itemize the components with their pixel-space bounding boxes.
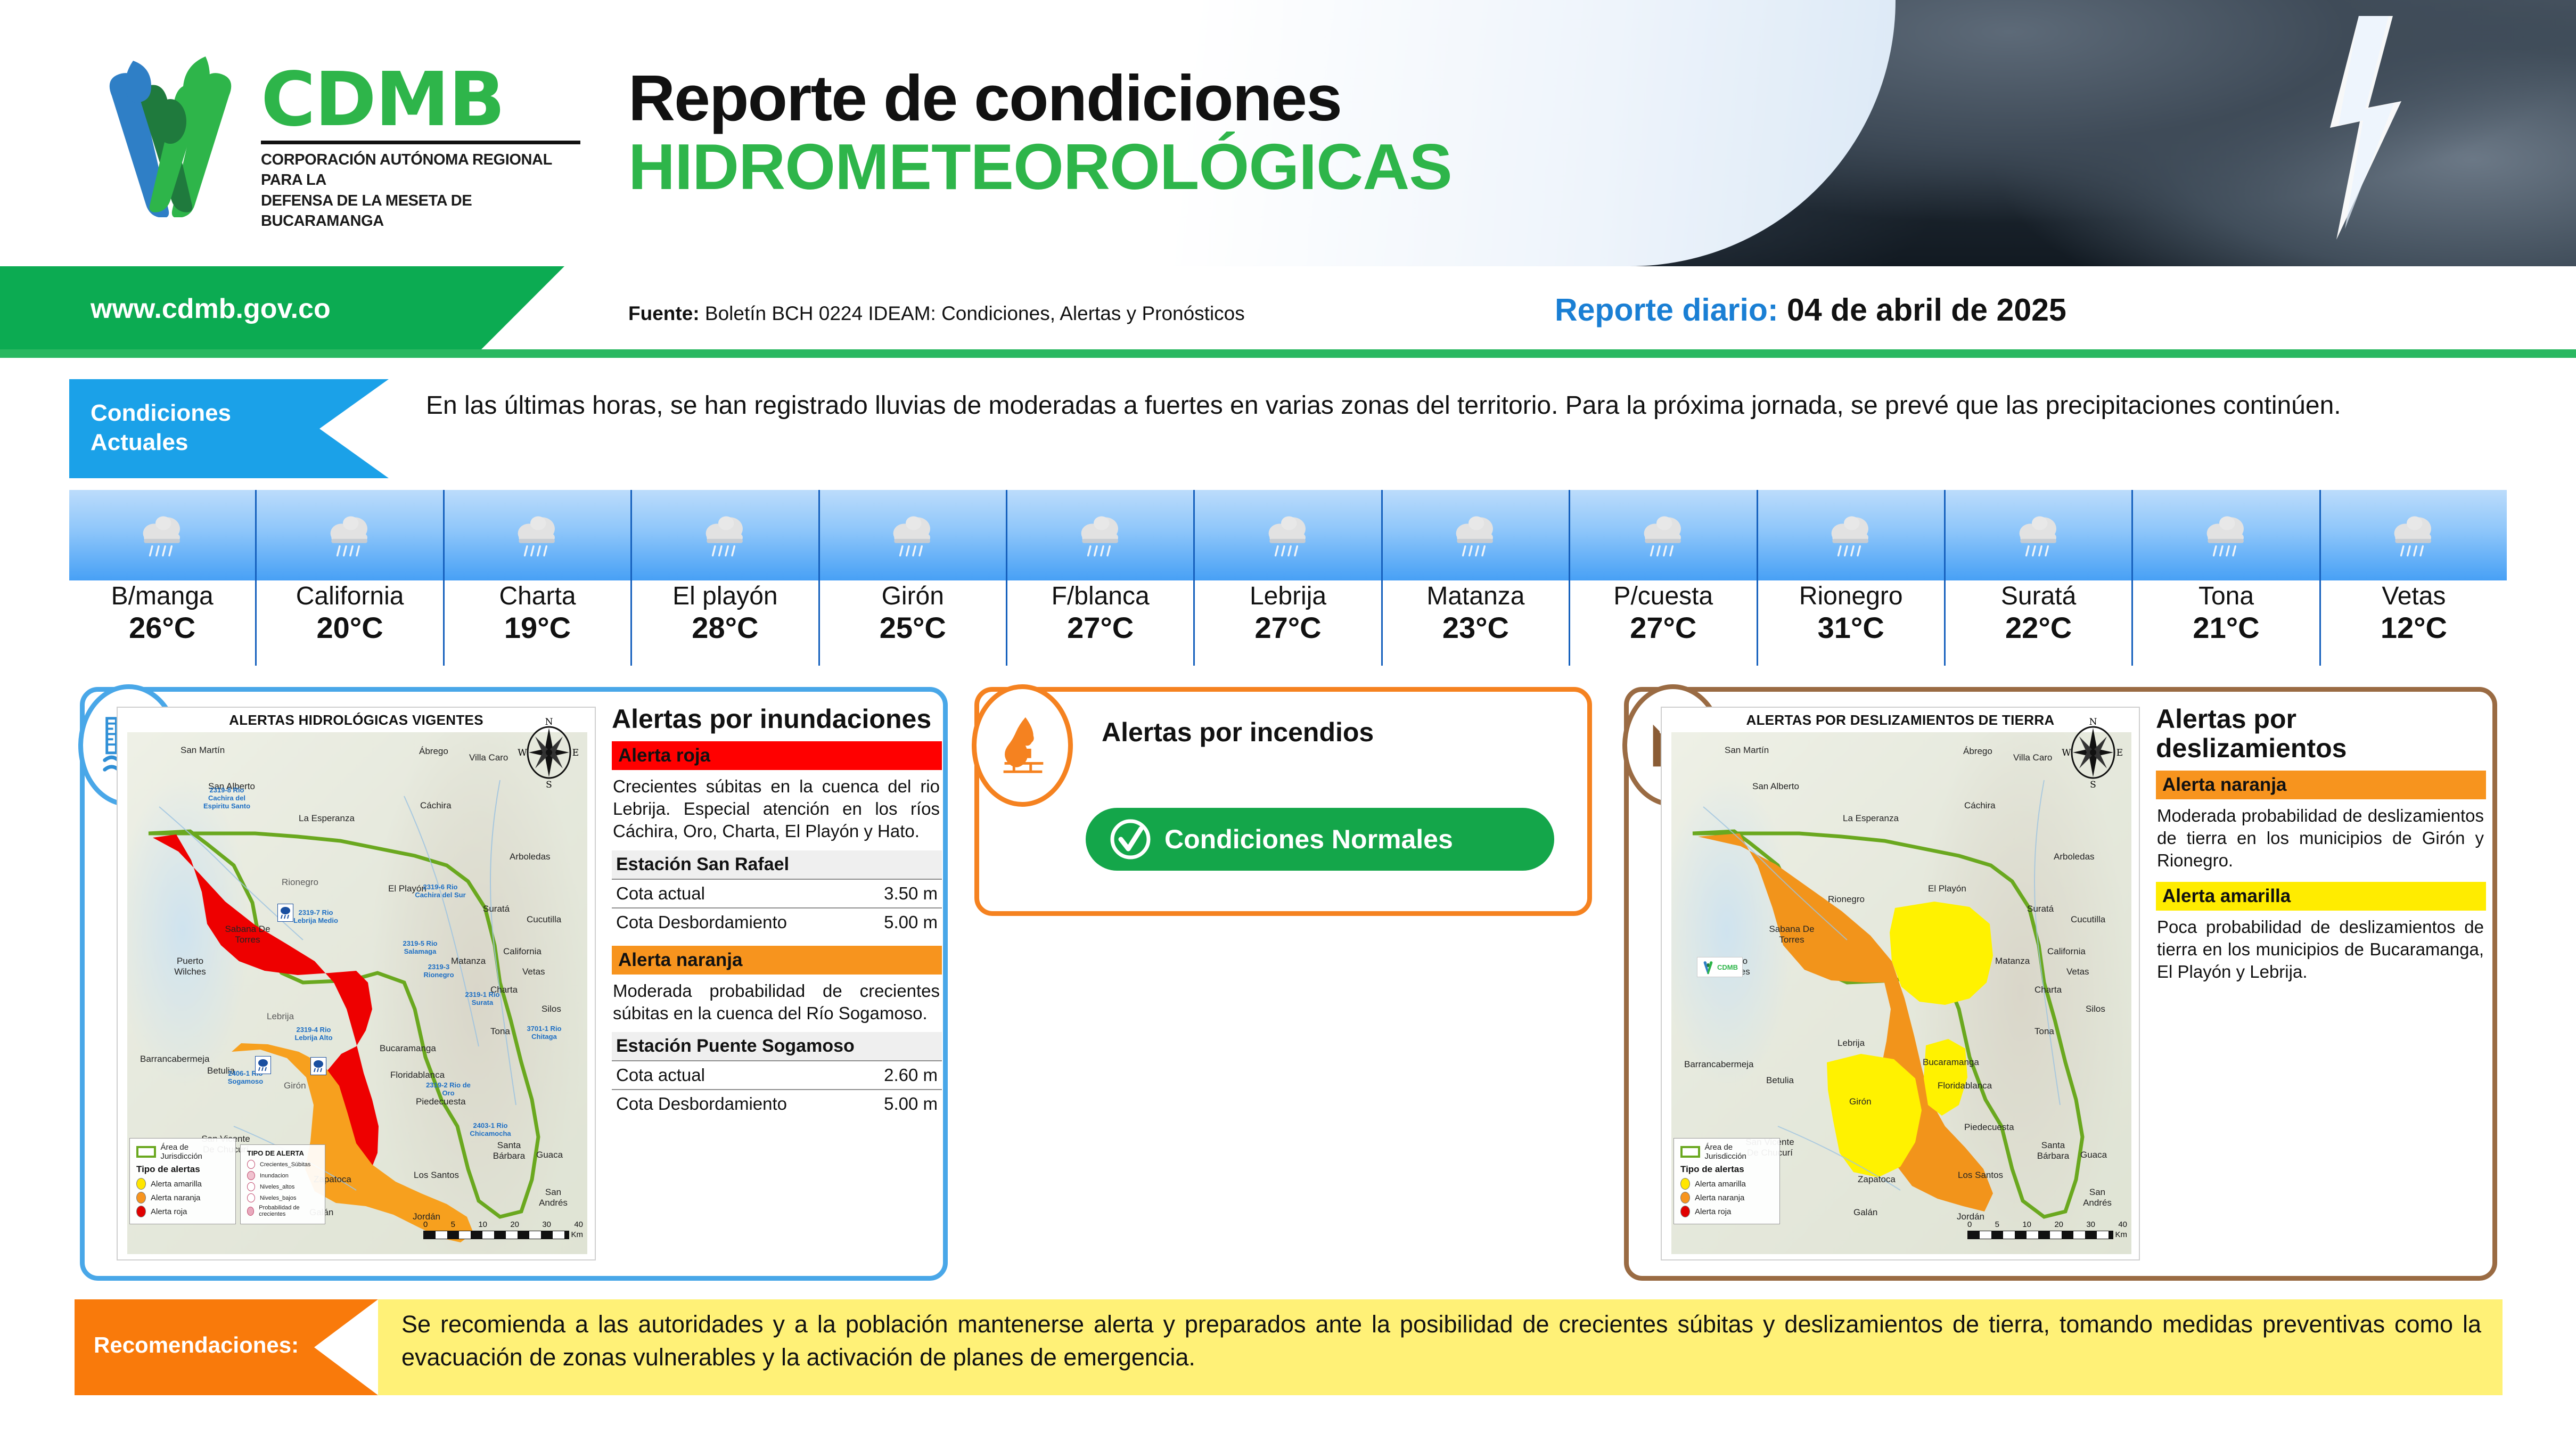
alert-type-label: Inundacion [260,1173,289,1179]
page-title-line1: Reporte de condiciones [628,64,1800,133]
rain-cloud-icon [2133,490,2319,580]
map-place-label: Silos [2086,1004,2105,1014]
station-row-value: 5.00 m [884,912,938,932]
map-place-label: Betulia [1766,1075,1794,1086]
map-place-label: Floridablanca [1938,1080,1992,1091]
map-place-label: Rionegro [1828,894,1865,905]
weather-temp: 27°C [1067,611,1134,645]
recommendations-body: Se recomienda a las autoridades y a la p… [378,1299,2503,1395]
svg-text:S: S [2090,780,2096,790]
map-place-label: Arboledas [510,852,551,862]
map-place-label: Cucutilla [2071,914,2105,925]
landslide-alerts-column: Alertas por deslizamientos Alerta naranj… [2156,705,2486,985]
fire-status-label: Condiciones Normales [1164,824,1453,855]
map-place-label: Vetas [522,967,545,977]
map-place-label: Lebrija [1837,1038,1865,1049]
svg-text:E: E [572,748,579,758]
map-place-label: Lebrija [267,1011,294,1022]
svg-text:W: W [518,748,527,758]
map-river-label: 2319-5 Rio Salamaga [393,940,447,956]
scale-tick: 10 [2022,1220,2031,1229]
svg-text:N: N [2089,717,2097,727]
map-place-label: Arboledas [2054,852,2095,862]
map-place-label: Cucutilla [527,914,561,925]
jurisdiction-swatch [136,1146,156,1158]
weather-cell: P/cuesta27°C [1570,490,1758,666]
map-river-label: 2319-8 Rio Cachira del Espiritu Santo [198,787,256,811]
map-place-label: Guaca [536,1150,563,1160]
alert-chip-amarilla: Alerta amarilla [2156,882,2486,911]
map-place-label: Villa Caro [2013,752,2052,763]
legend-item: Alerta naranja [1680,1192,1773,1204]
station-row: Cota actual 3.50 m [612,879,942,907]
weather-cell: Charta19°C [445,490,632,666]
weather-cell: Tona21°C [2133,490,2320,666]
lightning-bolt-icon [2279,16,2439,240]
map-place-label: Tona [490,1026,510,1037]
rain-cloud-icon [445,490,630,580]
legend-item-label: Alerta naranja [151,1193,200,1202]
weather-temp: 27°C [1630,611,1696,645]
hydrological-alerts-map[interactable]: ALERTAS HIDROLÓGICAS VIGENTES [117,707,596,1260]
map-place-label: Santa Bárbara [485,1140,533,1161]
map-place-label: San Alberto [1752,781,1799,792]
map-cdmb-badge-label: CDMB [1717,963,1738,971]
weather-city: California [296,583,404,611]
map-place-label: Bucaramanga [380,1043,436,1054]
weather-temp: 19°C [504,611,571,645]
current-conditions-tab-label: Condiciones Actuales [91,398,231,457]
station-row-value: 2.60 m [884,1065,938,1085]
map-river-label: 2319-6 Rio Cachira del Sur [414,883,467,899]
cdmb-logo: CDMB CORPORACIÓN AUTÓNOMA REGIONAL PARA … [69,47,602,223]
scale-tick: 0 [423,1220,428,1229]
weather-city: P/cuesta [1613,583,1713,611]
fire-alerts-card: Alertas por incendios Condiciones Normal… [974,687,1592,916]
map-place-label: Cáchira [420,800,452,811]
station-row-label: Cota actual [616,883,705,904]
scale-tick: 40 [2118,1220,2127,1229]
weather-cell: Matanza23°C [1383,490,1570,666]
legend-jurisdiction-row: Área de Jurisdicción [1680,1143,1773,1161]
info-bar: www.cdmb.gov.co Fuente: Boletín BCH 0224… [0,266,2576,357]
current-conditions-section: Condiciones Actuales En las últimas hora… [69,379,2507,478]
weather-city: Vetas [2382,583,2446,611]
scale-tick: 20 [2054,1220,2063,1229]
rain-cloud-icon [1383,490,1569,580]
alert-type-item: Niveles_bajos [247,1193,318,1202]
page-title: Reporte de condiciones HIDROMETEOROLÓGIC… [628,64,1800,202]
recommendations-tab-label: Recomendaciones: [94,1332,299,1358]
scale-unit: Km [571,1230,584,1239]
map-place-label: Floridablanca [390,1070,445,1080]
weather-cell: El playón28°C [632,490,819,666]
legend-jurisdiction-label: Área de Jurisdicción [161,1143,229,1161]
map-river-label: 2319-4 Rio Lebrija Alto [287,1026,340,1042]
alert-body-naranja: Moderada probabilidad de deslizamientos … [2156,799,2486,874]
page-title-line2: HIDROMETEOROLÓGICAS [628,133,1800,201]
website-url[interactable]: www.cdmb.gov.co [91,293,331,325]
map-place-label: Guaca [2080,1150,2107,1160]
map-place-label: Girón [284,1080,306,1091]
alert-chip-naranja: Alerta naranja [612,946,942,975]
legend-color-dot [1680,1206,1690,1217]
map-cdmb-badge: CDMB [1697,957,1743,977]
alert-type-item: Probabilidad de crecientes [247,1205,318,1217]
station-marker-icon [277,904,293,922]
scale-tick: 0 [1967,1220,1972,1229]
svg-text:W: W [2062,748,2071,758]
logo-subtitle-line1: CORPORACIÓN AUTÓNOMA REGIONAL PARA LA [261,150,591,191]
recommendations-text: Se recomienda a las autoridades y a la p… [401,1308,2481,1374]
map-place-label: San Andrés [533,1187,573,1208]
source-text: Fuente: Boletín BCH 0224 IDEAM: Condicio… [628,302,1245,325]
report-date-block: Reporte diario: 04 de abril de 2025 [1555,292,2066,328]
map-place-label: Ábrego [419,746,448,757]
weather-city: Girón [882,583,944,611]
logo-subtitle-line2: DEFENSA DE LA MESETA DE BUCARAMANGA [261,191,591,232]
station-marker-icon [310,1057,326,1075]
map-place-label: Zapatoca [1858,1174,1896,1185]
legend-item: Alerta roja [136,1206,229,1217]
alert-type-item: Crecientes_Súbitas [247,1160,318,1169]
recommendations-section: Recomendaciones: Se recomienda a las aut… [75,1299,2503,1395]
niveles-altos-icon [247,1182,255,1191]
legend-item: Alerta roja [1680,1206,1773,1217]
alert-type-label: Niveles_bajos [260,1195,296,1201]
alert-panels-row: ALERTAS HIDROLÓGICAS VIGENTES [0,682,2576,1283]
cdmb-mini-logo-icon [1702,960,1714,975]
weather-temp: 28°C [692,611,758,645]
hydro-map-legend: Área de Jurisdicción Tipo de alertas Ale… [129,1138,236,1224]
weather-temp: 31°C [1818,611,1884,645]
alert-type-item: Inundacion [247,1171,318,1180]
map-place-label: Girón [1849,1096,1872,1107]
weather-temp: 20°C [317,611,383,645]
weather-temp: 23°C [1442,611,1509,645]
map-place-label: Suratá [483,904,510,914]
rain-cloud-icon [632,490,818,580]
weather-cell: Girón25°C [820,490,1007,666]
legend-color-dot [136,1206,146,1217]
map-river-label: 2319-3 Rionegro [415,963,463,979]
alert-body-amarilla: Poca probabilidad de deslizamientos de t… [2156,911,2486,986]
legend-color-dot [136,1192,146,1204]
map-place-label: Puerto Wilches [165,956,216,977]
weather-temp: 27°C [1254,611,1321,645]
scale-tick: 5 [451,1220,455,1229]
station-row-label: Cota Desbordamiento [616,912,787,932]
hydro-map-scalebar: 0 5 10 20 30 40 Km [423,1220,583,1250]
infobar-bottom-rule [0,349,2576,358]
weather-temp: 21°C [2193,611,2259,645]
alert-type-label: Crecientes_Súbitas [260,1161,310,1168]
hydro-map-alert-type-legend: TIPO DE ALERTA Crecientes_Súbitas Inunda… [240,1144,325,1224]
station-row-value: 5.00 m [884,1094,938,1114]
alert-body-naranja: Moderada probabilidad de crecientes súbi… [612,975,942,1027]
map-place-label: Galán [1853,1207,1877,1218]
map-place-label: La Esperanza [299,813,355,824]
legend-item-label: Alerta amarilla [151,1180,202,1189]
rain-cloud-icon [257,490,442,580]
map-place-label: Los Santos [1958,1170,2003,1181]
crecientes-subitas-icon [247,1160,255,1169]
flood-alerts-card: ALERTAS HIDROLÓGICAS VIGENTES [80,687,948,1281]
weather-city: Matanza [1426,583,1524,611]
map-place-label: Los Santos [414,1170,459,1181]
flood-alerts-heading: Alertas por inundaciones [612,705,942,734]
map-place-label: Tona [2034,1026,2054,1037]
compass-rose-icon: N S E W [517,715,581,790]
rain-cloud-icon [820,490,1006,580]
map-place-label: La Esperanza [1843,813,1899,824]
cdmb-logo-mark-icon [82,47,258,217]
scale-tick: 5 [1995,1220,1999,1229]
station-marker-icon [255,1056,271,1074]
weather-cell: California20°C [257,490,444,666]
fire-status-badge: Condiciones Normales [1086,808,1554,871]
landslide-alerts-map[interactable]: ALERTAS POR DESLIZAMIENTOS DE TIERRA [1661,707,2140,1260]
map-place-label: San Martín [181,745,225,756]
map-place-label: Suratá [2027,904,2054,914]
weather-strip: B/manga26°C California20°C [69,490,2507,666]
weather-city: Lebrija [1250,583,1326,611]
logo-acronym: CDMB [261,63,591,137]
map-place-label: San Martín [1725,745,1769,756]
svg-text:N: N [545,717,553,727]
map-river-label: 2319-7 Rio Lebrija Medio [289,909,342,925]
weather-cell: Rionegro31°C [1758,490,1946,666]
legend-jurisdiction-label: Área de Jurisdicción [1705,1143,1773,1161]
legend-color-dot [1680,1192,1690,1204]
jurisdiction-swatch [1680,1146,1700,1158]
weather-city: Tona [2198,583,2254,611]
map-river-label: 2319-1 Rio Surata [458,991,506,1007]
check-circle-icon [1108,817,1153,862]
map-river-label: 2319-2 Rio de Oro [424,1082,472,1098]
station-row: Cota Desbordamiento 5.00 m [612,907,942,936]
legend-item-label: Alerta naranja [1695,1193,1744,1202]
fire-alerts-heading: Alertas por incendios [1102,717,1374,747]
station-row-label: Cota Desbordamiento [616,1094,787,1114]
landslide-map-scalebar: 0 5 10 20 30 40 Km [1967,1220,2127,1250]
rain-cloud-icon [1195,490,1381,580]
legend-item: Alerta amarilla [1680,1178,1773,1190]
map-place-label: California [2047,946,2086,957]
svg-text:E: E [2116,748,2123,758]
current-conditions-tab-line1: Condiciones [91,398,231,428]
weather-city: Suratá [2001,583,2076,611]
probabilidad-crecientes-icon [247,1207,254,1216]
legend-title: Tipo de alertas [1680,1164,1773,1175]
rain-cloud-icon [1946,490,2131,580]
map-place-label: Charta [2034,985,2062,995]
scale-tick: 30 [542,1220,551,1229]
flood-alerts-column: Alertas por inundaciones Alerta roja Cre… [612,705,942,1118]
station-row-value: 3.50 m [884,883,938,904]
scale-tick: 30 [2086,1220,2095,1229]
map-place-label: Villa Caro [469,752,508,763]
scale-tick: 10 [478,1220,487,1229]
source-label: Fuente: [628,302,700,324]
legend-color-dot [136,1178,146,1190]
scale-unit: Km [2115,1230,2128,1239]
legend-color-dot [1680,1178,1690,1190]
map-place-label: Sabana De Torres [1766,924,1817,945]
map-place-label: Silos [542,1004,561,1014]
map-place-label: Vetas [2066,967,2089,977]
map-place-label: Barrancabermeja [1684,1059,1753,1070]
weather-temp: 22°C [2005,611,2072,645]
map-place-label: Piedecuesta [1964,1122,2014,1133]
map-river-label: 3701-1 Rio Chitaga [520,1025,568,1041]
alert-body-roja: Crecientes súbitas en la cuenca del rio … [612,770,942,845]
map-place-label: Rionegro [282,877,318,888]
map-place-label: El Playón [1928,883,1966,894]
rain-cloud-icon [1758,490,1944,580]
weather-city: Charta [499,583,576,611]
alert-chip-naranja: Alerta naranja [2156,771,2486,799]
landslide-alerts-card: ALERTAS POR DESLIZAMIENTOS DE TIERRA [1624,687,2497,1281]
legend-item: Alerta naranja [136,1192,229,1204]
weather-city: F/blanca [1052,583,1150,611]
map-river-label: 2403-1 Rio Chicamocha [465,1122,516,1138]
station-row: Cota Desbordamiento 5.00 m [612,1089,942,1118]
alert-type-label: Probabilidad de crecientes [259,1205,318,1217]
compass-rose-icon: N S E W [2061,715,2125,790]
svg-text:S: S [546,780,552,790]
landslide-alerts-heading: Alertas por deslizamientos [2156,705,2486,763]
page-header: CDMB CORPORACIÓN AUTÓNOMA REGIONAL PARA … [0,0,2576,266]
rain-cloud-icon [1570,490,1756,580]
weather-temp: 26°C [129,611,195,645]
legend-item-label: Alerta amarilla [1695,1180,1746,1189]
legend-item-label: Alerta roja [151,1207,187,1216]
legend-jurisdiction-row: Área de Jurisdicción [136,1143,229,1161]
rain-cloud-icon [69,490,255,580]
scale-tick: 20 [510,1220,519,1229]
map-place-label: Piedecuesta [416,1096,466,1107]
map-place-label: Ábrego [1963,746,1992,757]
source-value: Boletín BCH 0224 IDEAM: Condiciones, Ale… [705,302,1245,324]
map-place-label: Matanza [1995,956,2030,967]
map-place-label: San Andrés [2077,1187,2118,1208]
rain-cloud-icon [2321,490,2507,580]
current-conditions-tab-line2: Actuales [91,428,231,457]
rain-cloud-icon [1007,490,1193,580]
scale-tick: 40 [574,1220,583,1229]
weather-cell: Lebrija27°C [1195,490,1382,666]
weather-cell: Suratá22°C [1946,490,2133,666]
weather-cell: F/blanca27°C [1007,490,1195,666]
map-place-label: Barrancabermeja [140,1054,209,1065]
weather-cell: B/manga26°C [69,490,257,666]
map-place-label: Sabana De Torres [222,924,273,945]
forest-fire-icon [972,684,1073,807]
map-place-label: Cáchira [1964,800,1996,811]
map-place-label: Santa Bárbara [2029,1140,2077,1161]
report-date-value: 04 de abril de 2025 [1787,292,2066,328]
alert-type-label: Niveles_altos [260,1184,294,1190]
landslide-map-legend: Área de Jurisdicción Tipo de alertas Ale… [1673,1138,1780,1224]
station-name-puente-sogamoso: Estación Puente Sogamoso [612,1032,942,1060]
legend-item-label: Alerta roja [1695,1207,1731,1216]
legend-item: Alerta amarilla [136,1178,229,1190]
niveles-bajos-icon [247,1193,255,1202]
current-conditions-text: En las últimas horas, se han registrado … [426,389,2492,423]
inundacion-icon [247,1171,255,1180]
alert-chip-roja: Alerta roja [612,741,942,770]
alert-type-item: Niveles_altos [247,1182,318,1191]
weather-cell: Vetas12°C [2321,490,2507,666]
weather-temp: 25°C [880,611,946,645]
station-row-label: Cota actual [616,1065,705,1085]
station-row: Cota actual 2.60 m [612,1060,942,1089]
map-place-label: Bucaramanga [1923,1057,1979,1068]
map-place-label: California [503,946,542,957]
weather-city: B/manga [111,583,214,611]
report-date-label: Reporte diario: [1555,292,1778,328]
station-name-san-rafael: Estación San Rafael [612,850,942,879]
legend-title: Tipo de alertas [136,1164,229,1175]
alert-type-title: TIPO DE ALERTA [247,1149,318,1157]
weather-city: Rionegro [1799,583,1903,611]
weather-temp: 12°C [2381,611,2447,645]
weather-city: El playón [672,583,777,611]
